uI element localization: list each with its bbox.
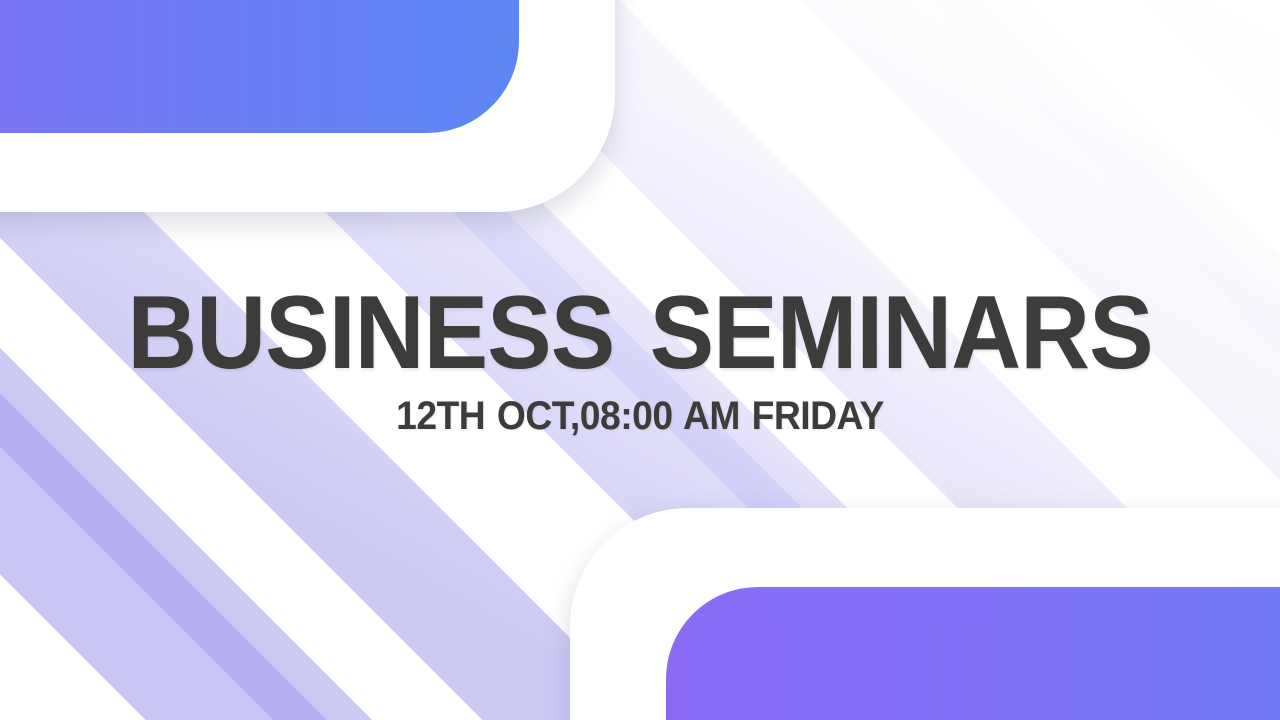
bottom-right-gradient-card bbox=[666, 587, 1280, 720]
bottom-right-corner-shape bbox=[570, 508, 1280, 720]
top-left-corner-shape bbox=[0, 0, 615, 212]
event-subtitle: 12TH OCT,08:00 AM FRIDAY bbox=[45, 396, 1235, 436]
poster-canvas: BUSINESS SEMINARS 12TH OCT,08:00 AM FRID… bbox=[0, 0, 1280, 720]
top-left-gradient-card bbox=[0, 0, 519, 133]
event-title: BUSINESS SEMINARS bbox=[45, 286, 1235, 382]
event-text-block: BUSINESS SEMINARS 12TH OCT,08:00 AM FRID… bbox=[0, 286, 1280, 436]
